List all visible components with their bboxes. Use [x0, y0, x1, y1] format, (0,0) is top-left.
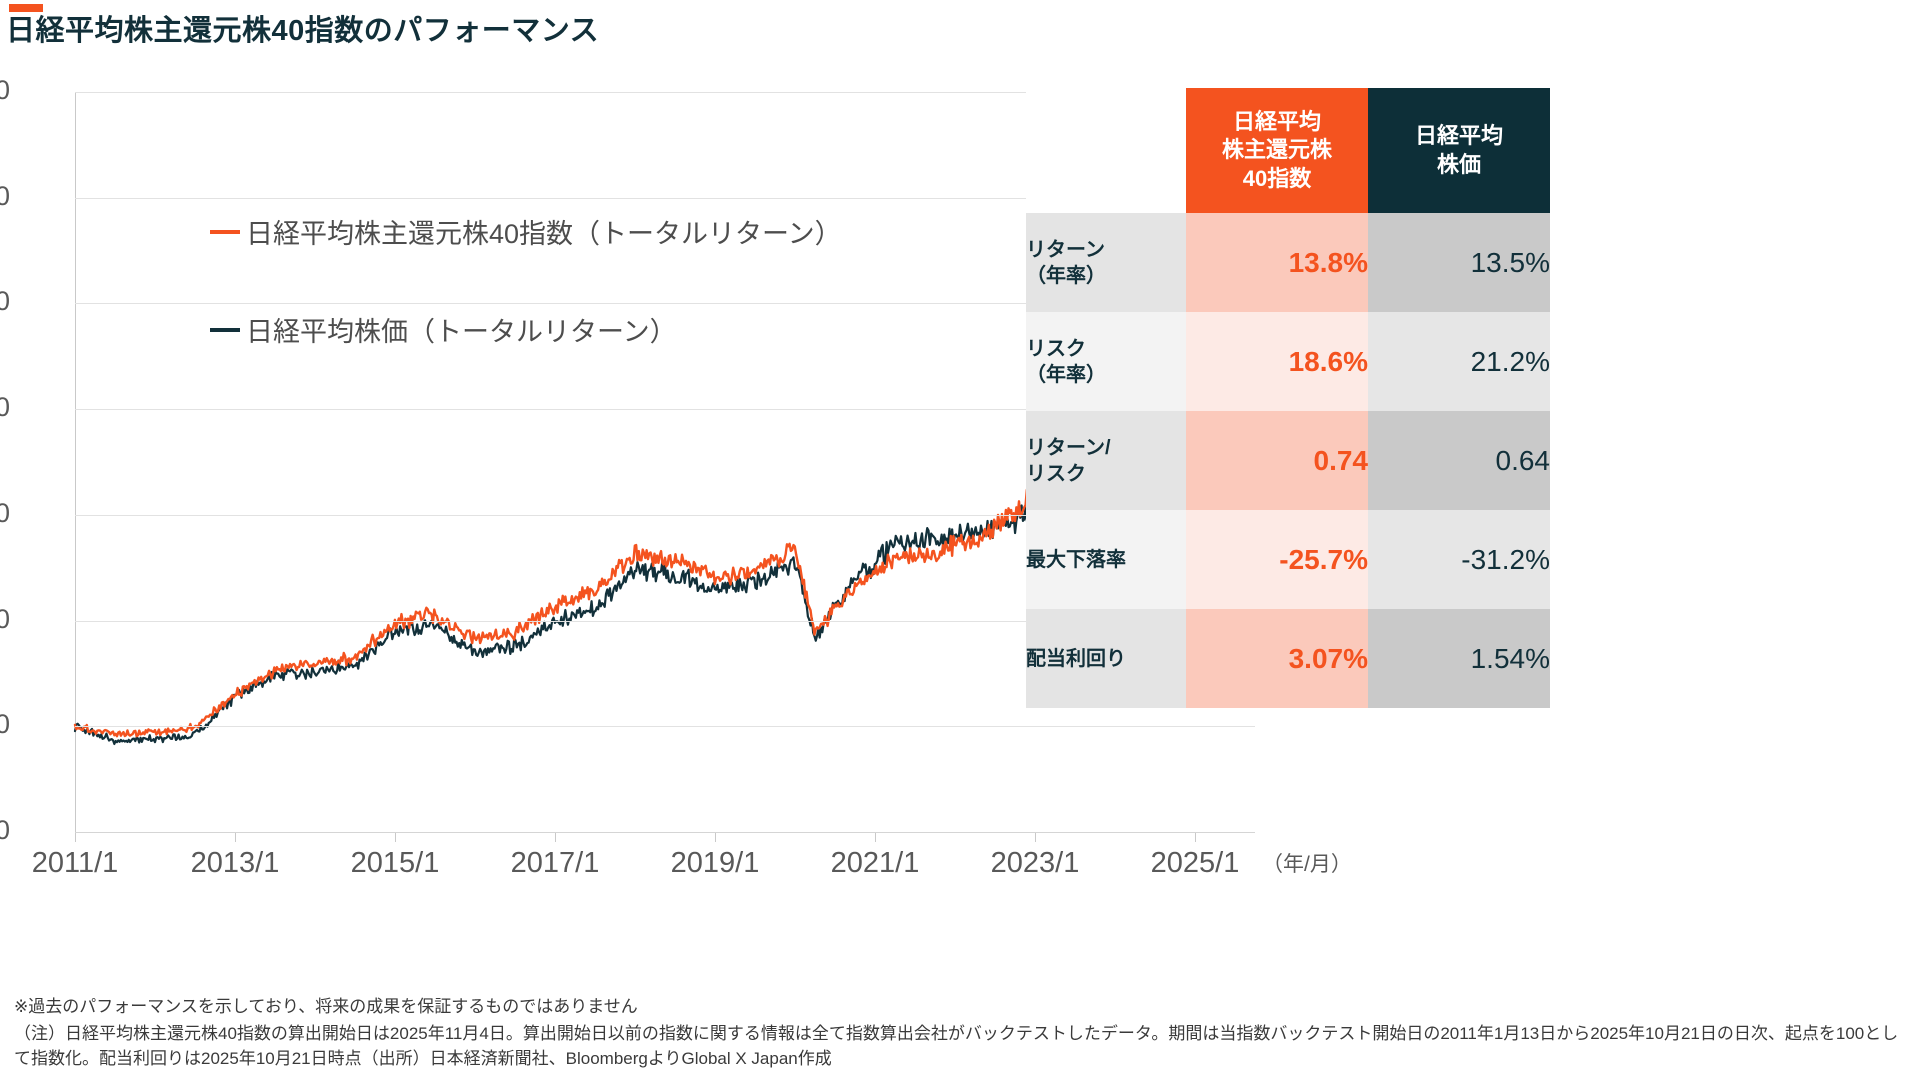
x-axis-tick-label: 2015/1	[351, 847, 440, 880]
x-axis-tick	[715, 833, 716, 842]
row-label-line: （年率）	[1026, 263, 1186, 289]
table-header-index40: 日経平均 株主還元株 40指数	[1186, 88, 1368, 213]
cell-value-nikkei225: -31.2%	[1368, 510, 1550, 609]
row-label-line: リスク	[1026, 461, 1186, 487]
y-axis-tick-label: 500	[0, 286, 10, 317]
legend-label-nikkei225: 日経平均株価（トータルリターン）	[246, 310, 677, 349]
table-row: リターン/リスク0.740.64	[1026, 411, 1550, 510]
table-row: リスク（年率）18.6%21.2%	[1026, 312, 1550, 411]
header-line: 日経平均	[1368, 122, 1550, 150]
footnotes: ※過去のパフォーマンスを示しており、将来の成果を保証するものではありません （注…	[14, 994, 1914, 1071]
legend-label-index40: 日経平均株主還元株40指数（トータルリターン）	[246, 212, 842, 251]
x-axis-tick	[395, 833, 396, 842]
y-axis-tick-label: 200	[0, 604, 10, 635]
table-header-blank	[1026, 88, 1186, 213]
x-axis-tick-label: 2019/1	[671, 847, 760, 880]
x-axis-tick-label: 2021/1	[831, 847, 920, 880]
header-line: 株価	[1368, 151, 1550, 179]
row-label-line: リターン/	[1026, 435, 1186, 461]
y-axis-tick-label: 400	[0, 392, 10, 423]
row-label: リターン/リスク	[1026, 411, 1186, 510]
x-axis-tick-label: 2023/1	[991, 847, 1080, 880]
cell-value-index40: 13.8%	[1186, 213, 1368, 312]
footnote-note: （注）日経平均株主還元株40指数の算出開始日は2025年11月4日。算出開始日以…	[14, 1021, 1914, 1071]
x-axis-tick	[1195, 833, 1196, 842]
x-axis-tick	[235, 833, 236, 842]
table-header-nikkei225: 日経平均 株価	[1368, 88, 1550, 213]
x-axis-tick-label: 2013/1	[191, 847, 280, 880]
x-axis-unit-label: （年/月）	[1262, 848, 1352, 878]
cell-value-index40: -25.7%	[1186, 510, 1368, 609]
page-title: 日経平均株主還元株40指数のパフォーマンス	[6, 16, 1106, 48]
cell-value-index40: 3.07%	[1186, 609, 1368, 708]
cell-value-nikkei225: 1.54%	[1368, 609, 1550, 708]
cell-value-index40: 18.6%	[1186, 312, 1368, 411]
performance-comparison-table: 日経平均 株主還元株 40指数 日経平均 株価 リターン（年率）13.8%13.…	[1026, 88, 1550, 708]
y-gridline	[75, 726, 1255, 727]
y-axis-tick-label: 0	[0, 815, 10, 846]
y-axis-tick-label: 300	[0, 498, 10, 529]
row-label-line: リターン	[1026, 237, 1186, 263]
y-axis-tick-label: 700	[0, 75, 10, 106]
cell-value-index40: 0.74	[1186, 411, 1368, 510]
x-axis-tick-label: 2011/1	[32, 847, 119, 880]
x-axis-tick-label: 2017/1	[511, 847, 600, 880]
legend-item-index40: 日経平均株主還元株40指数（トータルリターン）	[210, 212, 842, 251]
footnote-disclaimer: ※過去のパフォーマンスを示しており、将来の成果を保証するものではありません	[14, 994, 1914, 1019]
table-row: リターン（年率）13.8%13.5%	[1026, 213, 1550, 312]
table-header-row: 日経平均 株主還元株 40指数 日経平均 株価	[1026, 88, 1550, 213]
row-label: 配当利回り	[1026, 609, 1186, 708]
row-label-line: リスク	[1026, 336, 1186, 362]
title-bar: 日経平均株主還元株40指数のパフォーマンス	[6, 4, 1106, 48]
row-label-line: 最大下落率	[1026, 547, 1186, 573]
x-axis: 2011/12013/12015/12017/12019/12021/12023…	[75, 833, 1255, 893]
row-label-line: 配当利回り	[1026, 646, 1186, 672]
row-label: 最大下落率	[1026, 510, 1186, 609]
x-axis-tick	[75, 833, 76, 842]
header-line: 株主還元株	[1186, 136, 1368, 164]
legend-swatch-nikkei225	[210, 328, 240, 332]
x-axis-tick	[1035, 833, 1036, 842]
legend-swatch-index40	[210, 230, 240, 234]
x-axis-tick	[555, 833, 556, 842]
accent-bar-icon	[9, 4, 43, 12]
row-label: リスク（年率）	[1026, 312, 1186, 411]
table-row: 最大下落率-25.7%-31.2%	[1026, 510, 1550, 609]
y-axis-tick-label: 600	[0, 181, 10, 212]
table-row: 配当利回り3.07%1.54%	[1026, 609, 1550, 708]
x-axis-tick-label: 2025/1	[1151, 847, 1240, 880]
row-label: リターン（年率）	[1026, 213, 1186, 312]
header-line: 40指数	[1186, 165, 1368, 193]
row-label-line: （年率）	[1026, 362, 1186, 388]
table-body: リターン（年率）13.8%13.5%リスク（年率）18.6%21.2%リターン/…	[1026, 213, 1550, 708]
y-axis-tick-label: 100	[0, 709, 10, 740]
cell-value-nikkei225: 21.2%	[1368, 312, 1550, 411]
cell-value-nikkei225: 0.64	[1368, 411, 1550, 510]
cell-value-nikkei225: 13.5%	[1368, 213, 1550, 312]
legend-item-nikkei225: 日経平均株価（トータルリターン）	[210, 310, 677, 349]
x-axis-tick	[875, 833, 876, 842]
header-line: 日経平均	[1186, 108, 1368, 136]
